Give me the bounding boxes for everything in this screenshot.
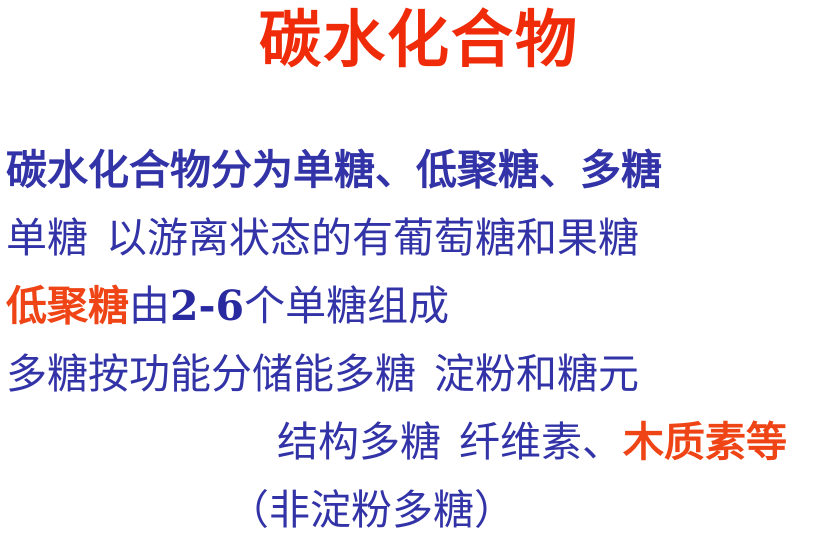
monosaccharide-label: 单糖: [6, 214, 88, 262]
body-line-oligosaccharide: 低聚糖由2-6个单糖组成: [0, 272, 838, 340]
oligosaccharide-range: 2-6: [170, 282, 244, 330]
body-line-classification: 碳水化合物分为单糖、低聚糖、多糖: [0, 136, 838, 204]
structural-polysaccharide-label: 结构多糖: [277, 418, 441, 466]
lignin-accent: 木质素等: [623, 418, 787, 466]
nonstarch-polysaccharide-note: （非淀粉多糖）: [228, 486, 515, 534]
oligosaccharide-label: 低聚糖: [6, 282, 129, 330]
oligosaccharide-prefix: 由: [129, 282, 170, 330]
classification-text: 碳水化合物分为单糖、低聚糖、多糖: [6, 146, 662, 194]
body-line-structural-polysaccharide: 结构多糖纤维素、木质素等: [0, 408, 838, 476]
oligosaccharide-suffix: 个单糖组成: [244, 282, 449, 330]
storage-polysaccharide-examples: 淀粉和糖元: [434, 350, 639, 398]
slide-body: 碳水化合物分为单糖、低聚糖、多糖 单糖以游离状态的有葡萄糖和果糖 低聚糖由2-6…: [0, 136, 838, 544]
body-line-monosaccharide: 单糖以游离状态的有葡萄糖和果糖: [0, 204, 838, 272]
body-line-storage-polysaccharide: 多糖按功能分储能多糖淀粉和糖元: [0, 340, 838, 408]
body-line-nonstarch-note: （非淀粉多糖）: [0, 476, 838, 544]
structural-polysaccharide-examples: 纤维素、: [459, 418, 623, 466]
slide-canvas: 碳水化合物 碳水化合物分为单糖、低聚糖、多糖 单糖以游离状态的有葡萄糖和果糖 低…: [0, 0, 838, 523]
polysaccharide-function-label: 多糖按功能分储能多糖: [6, 350, 416, 398]
page-title: 碳水化合物: [0, 4, 838, 76]
monosaccharide-text: 以游离状态的有葡萄糖和果糖: [106, 214, 639, 262]
